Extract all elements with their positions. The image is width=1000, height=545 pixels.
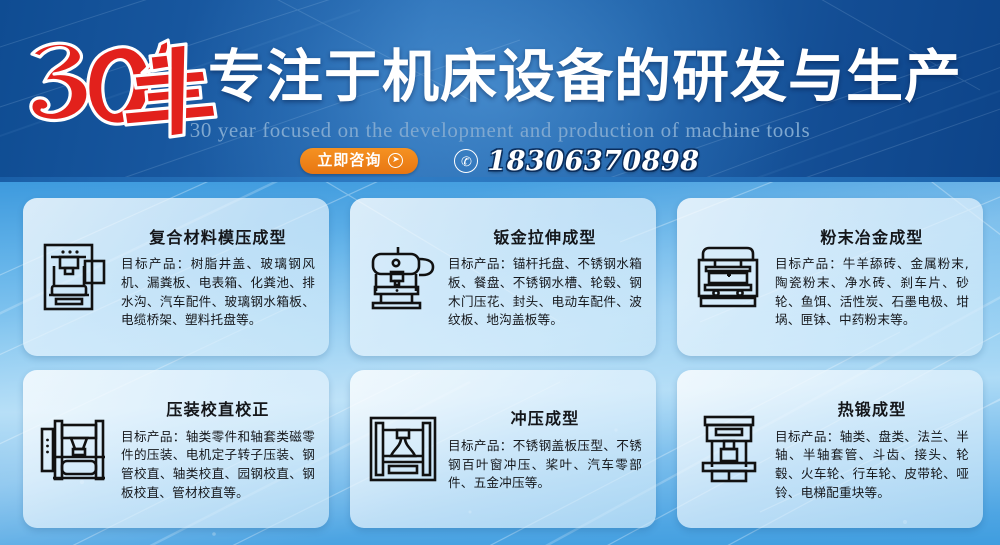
card-description: 目标产品：轴类、盘类、法兰、半轴、半轴套管、斗齿、接头、轮毂、火车轮、行车轮、皮… — [775, 428, 969, 502]
card-description: 目标产品：树脂井盖、玻璃钢风机、漏粪板、电表箱、化粪池、排水沟、汽车配件、玻璃钢… — [121, 255, 315, 329]
consult-now-label: 立即咨询 — [317, 153, 381, 168]
phone-icon: ✆ — [454, 149, 478, 173]
card-body: 冲压成型 目标产品：不锈钢盖板压型、不锈钢百叶窗冲压、桨叶、汽车零部件、五金冲压… — [448, 405, 644, 493]
page-title: 专注于机床设备的研发与生产 — [208, 44, 962, 110]
hot-forging-press-icon — [687, 406, 773, 492]
card-body: 粉末冶金成型 目标产品：牛羊舔砖、金属粉末,陶瓷粉末、净水砖、刹车片、砂轮、鱼饵… — [775, 224, 971, 329]
card-sheet-metal-drawing[interactable]: 钣金拉伸成型 目标产品：锚杆托盘、不锈钢水箱板、餐盘、不锈钢水槽、轮毂、钢木门压… — [350, 198, 656, 356]
card-title: 压装校直校正 — [121, 396, 315, 420]
card-description: 目标产品：牛羊舔砖、金属粉末,陶瓷粉末、净水砖、刹车片、砂轮、鱼饵、活性炭、石墨… — [775, 255, 969, 329]
compression-molding-press-icon — [33, 234, 119, 320]
press-fit-straightening-icon — [33, 406, 119, 492]
cards-section: 复合材料模压成型 目标产品：树脂井盖、玻璃钢风机、漏粪板、电表箱、化粪池、排水沟… — [0, 182, 1000, 545]
card-title: 复合材料模压成型 — [121, 224, 315, 248]
card-title: 粉末冶金成型 — [775, 224, 969, 248]
card-powder-metallurgy[interactable]: 粉末冶金成型 目标产品：牛羊舔砖、金属粉末,陶瓷粉末、净水砖、刹车片、砂轮、鱼饵… — [677, 198, 983, 356]
card-body: 复合材料模压成型 目标产品：树脂井盖、玻璃钢风机、漏粪板、电表箱、化粪池、排水沟… — [121, 224, 317, 329]
card-stamping[interactable]: 冲压成型 目标产品：不锈钢盖板压型、不锈钢百叶窗冲压、桨叶、汽车零部件、五金冲压… — [350, 370, 656, 528]
card-compression-molding[interactable]: 复合材料模压成型 目标产品：树脂井盖、玻璃钢风机、漏粪板、电表箱、化粪池、排水沟… — [23, 198, 329, 356]
years-badge — [18, 30, 218, 142]
card-hot-forging[interactable]: 热锻成型 目标产品：轴类、盘类、法兰、半轴、半轴套管、斗齿、接头、轮毂、火车轮、… — [677, 370, 983, 528]
card-description: 目标产品：不锈钢盖板压型、不锈钢百叶窗冲压、桨叶、汽车零部件、五金冲压等。 — [448, 437, 642, 493]
phone-group[interactable]: ✆ 18306370898 — [454, 146, 699, 177]
banner-header: 专注于机床设备的研发与生产 30 year focused on the dev… — [0, 0, 1000, 182]
card-description: 目标产品：锚杆托盘、不锈钢水箱板、餐盘、不锈钢水槽、轮毂、钢木门压花、封头、电动… — [448, 255, 642, 329]
sheet-metal-drawing-press-icon — [360, 234, 446, 320]
promo-banner: 专注于机床设备的研发与生产 30 year focused on the dev… — [0, 0, 1000, 545]
arrow-right-icon: ➤ — [388, 153, 403, 168]
phone-number: 18306370898 — [487, 146, 699, 177]
card-title: 冲压成型 — [448, 405, 642, 429]
card-press-fit-straightening[interactable]: 压装校直校正 目标产品：轴类零件和轴套类磁零件的压装、电机定子转子压装、钢管校直… — [23, 370, 329, 528]
card-body: 钣金拉伸成型 目标产品：锚杆托盘、不锈钢水箱板、餐盘、不锈钢水槽、轮毂、钢木门压… — [448, 224, 644, 329]
card-title: 钣金拉伸成型 — [448, 224, 642, 248]
card-description: 目标产品：轴类零件和轴套类磁零件的压装、电机定子转子压装、钢管校直、轴类校直、园… — [121, 428, 315, 502]
thirty-years-calligraphy-icon — [18, 30, 218, 142]
consult-now-button[interactable]: 立即咨询 ➤ — [300, 148, 418, 174]
card-title: 热锻成型 — [775, 396, 969, 420]
card-body: 热锻成型 目标产品：轴类、盘类、法兰、半轴、半轴套管、斗齿、接头、轮毂、火车轮、… — [775, 396, 971, 502]
cards-grid: 复合材料模压成型 目标产品：树脂井盖、玻璃钢风机、漏粪板、电表箱、化粪池、排水沟… — [0, 182, 1000, 545]
cta-row: 立即咨询 ➤ ✆ 18306370898 — [0, 144, 1000, 178]
powder-metallurgy-press-icon — [687, 234, 773, 320]
stamping-press-icon — [360, 406, 446, 492]
card-body: 压装校直校正 目标产品：轴类零件和轴套类磁零件的压装、电机定子转子压装、钢管校直… — [121, 396, 317, 502]
